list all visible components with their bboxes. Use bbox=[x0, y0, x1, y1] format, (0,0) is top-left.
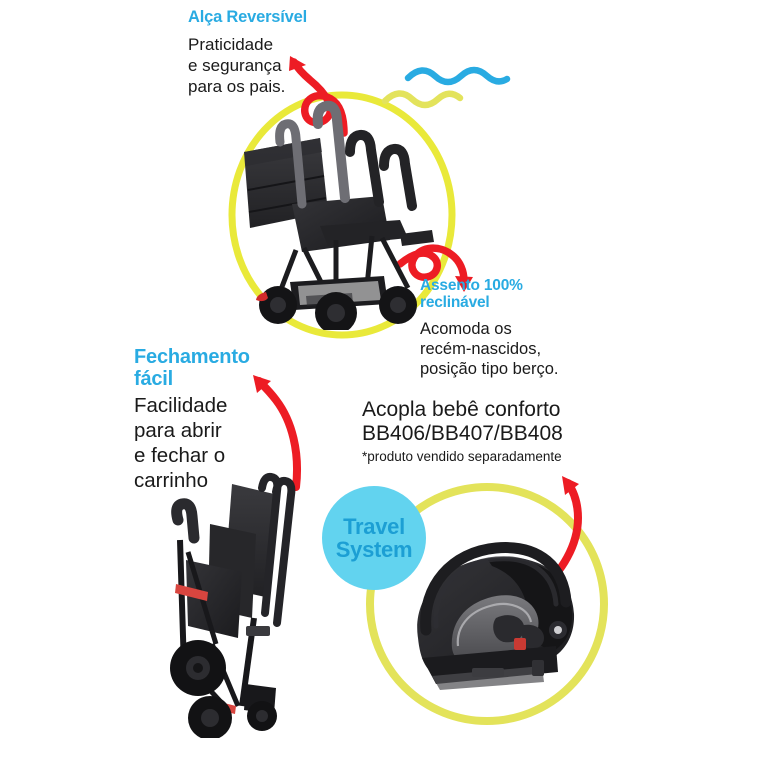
travel-system-line2: BB406/BB407/BB408 bbox=[362, 422, 622, 446]
infographic-canvas: Travel System Alça Reversível Praticidad… bbox=[0, 0, 760, 760]
feature-reversible-handle: Alça Reversível Praticidade e segurança … bbox=[188, 8, 378, 98]
travel-system-disclaimer: *produto vendido separadamente bbox=[362, 449, 622, 465]
stroller-folded-image bbox=[150, 468, 330, 738]
feature-headline-easy-fold: Fechamento fácil bbox=[134, 346, 289, 391]
travel-system-line1: Acopla bebê conforto bbox=[362, 398, 622, 422]
cyan-squiggle-icon bbox=[408, 70, 507, 82]
feature-body-reversible-handle: Praticidade e segurança para os pais. bbox=[188, 35, 378, 97]
feature-travel-system: Acopla bebê conforto BB406/BB407/BB408 *… bbox=[362, 398, 622, 465]
feature-headline-reversible-handle: Alça Reversível bbox=[188, 8, 378, 26]
car-seat-image bbox=[392, 526, 607, 696]
stroller-reclined-image bbox=[232, 100, 452, 330]
travel-system-label-line1: Travel bbox=[343, 515, 405, 538]
travel-system-badge: Travel System bbox=[322, 486, 426, 590]
travel-system-label-line2: System bbox=[336, 538, 412, 561]
